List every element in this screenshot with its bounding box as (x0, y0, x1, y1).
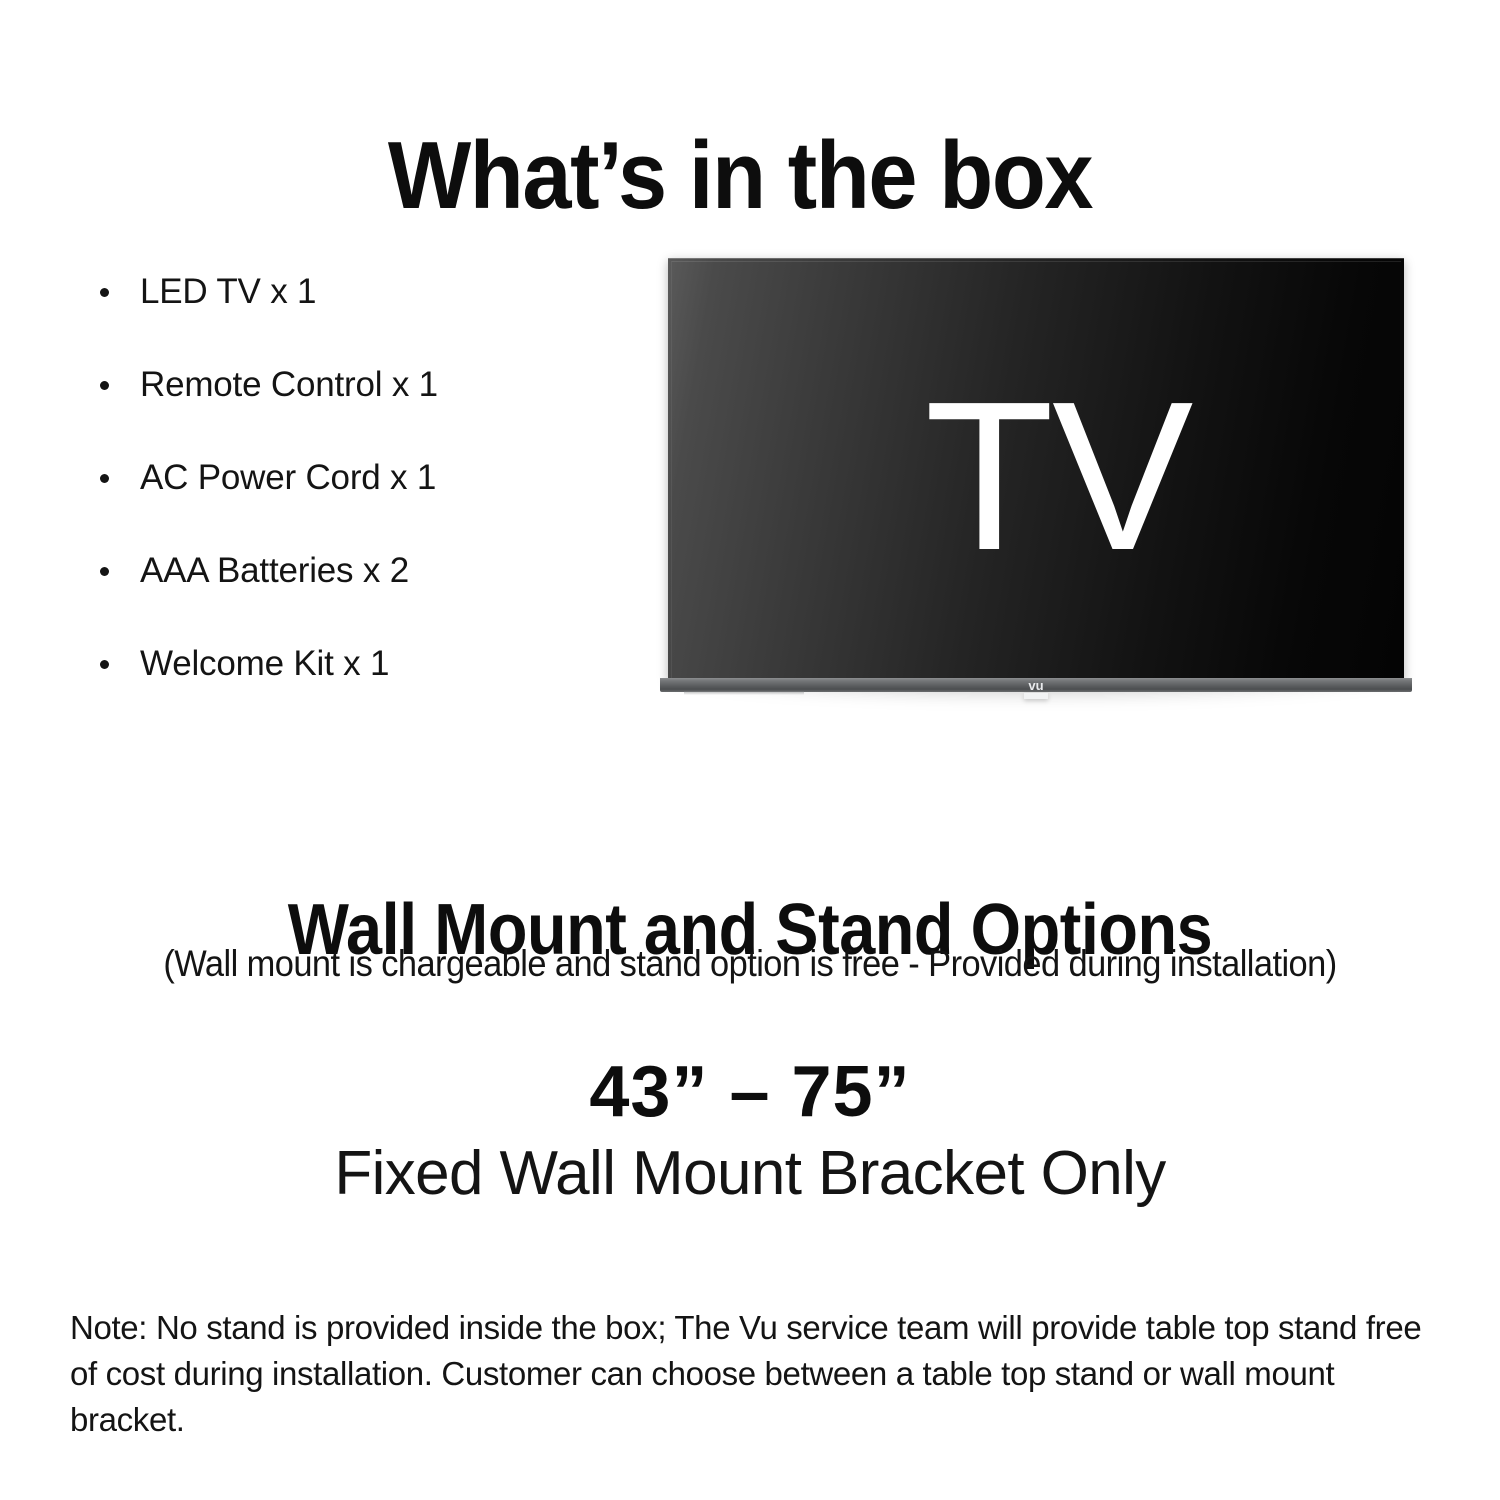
note-text: Note: No stand is provided inside the bo… (70, 1305, 1442, 1443)
bullet-dot-icon (100, 660, 109, 669)
vu-brand-logo: vu (660, 679, 1412, 692)
bullet-dot-icon (100, 567, 109, 576)
wall-mount-subtitle: (Wall mount is chargeable and stand opti… (53, 942, 1448, 986)
list-item-label: AAA Batteries x 2 (140, 551, 409, 590)
bullet-dot-icon (100, 381, 109, 390)
list-item: AC Power Cord x 1 (88, 454, 648, 547)
bullet-dot-icon (100, 474, 109, 483)
box-contents-list: LED TV x 1 Remote Control x 1 AC Power C… (88, 268, 648, 733)
list-item: AAA Batteries x 2 (88, 547, 648, 640)
bracket-type-label: Fixed Wall Mount Bracket Only (0, 1138, 1500, 1210)
tv-product-image: TV vu (660, 250, 1416, 710)
page-title: What’s in the box (59, 126, 1421, 227)
list-item-label: LED TV x 1 (140, 272, 316, 311)
whats-in-the-box-page: What’s in the box LED TV x 1 Remote Cont… (0, 0, 1500, 1500)
list-item: Remote Control x 1 (88, 361, 648, 454)
list-item: Welcome Kit x 1 (88, 640, 648, 733)
list-item: LED TV x 1 (88, 268, 648, 361)
bullet-dot-icon (100, 288, 109, 297)
tv-size-range: 43” – 75” (0, 1052, 1500, 1132)
list-item-label: AC Power Cord x 1 (140, 458, 436, 497)
list-item-label: Remote Control x 1 (140, 365, 438, 404)
tv-stand-tab (1024, 693, 1048, 699)
tv-screen-panel: TV (668, 258, 1404, 680)
tv-screen-label: TV (668, 370, 1404, 582)
list-item-label: Welcome Kit x 1 (140, 644, 389, 683)
